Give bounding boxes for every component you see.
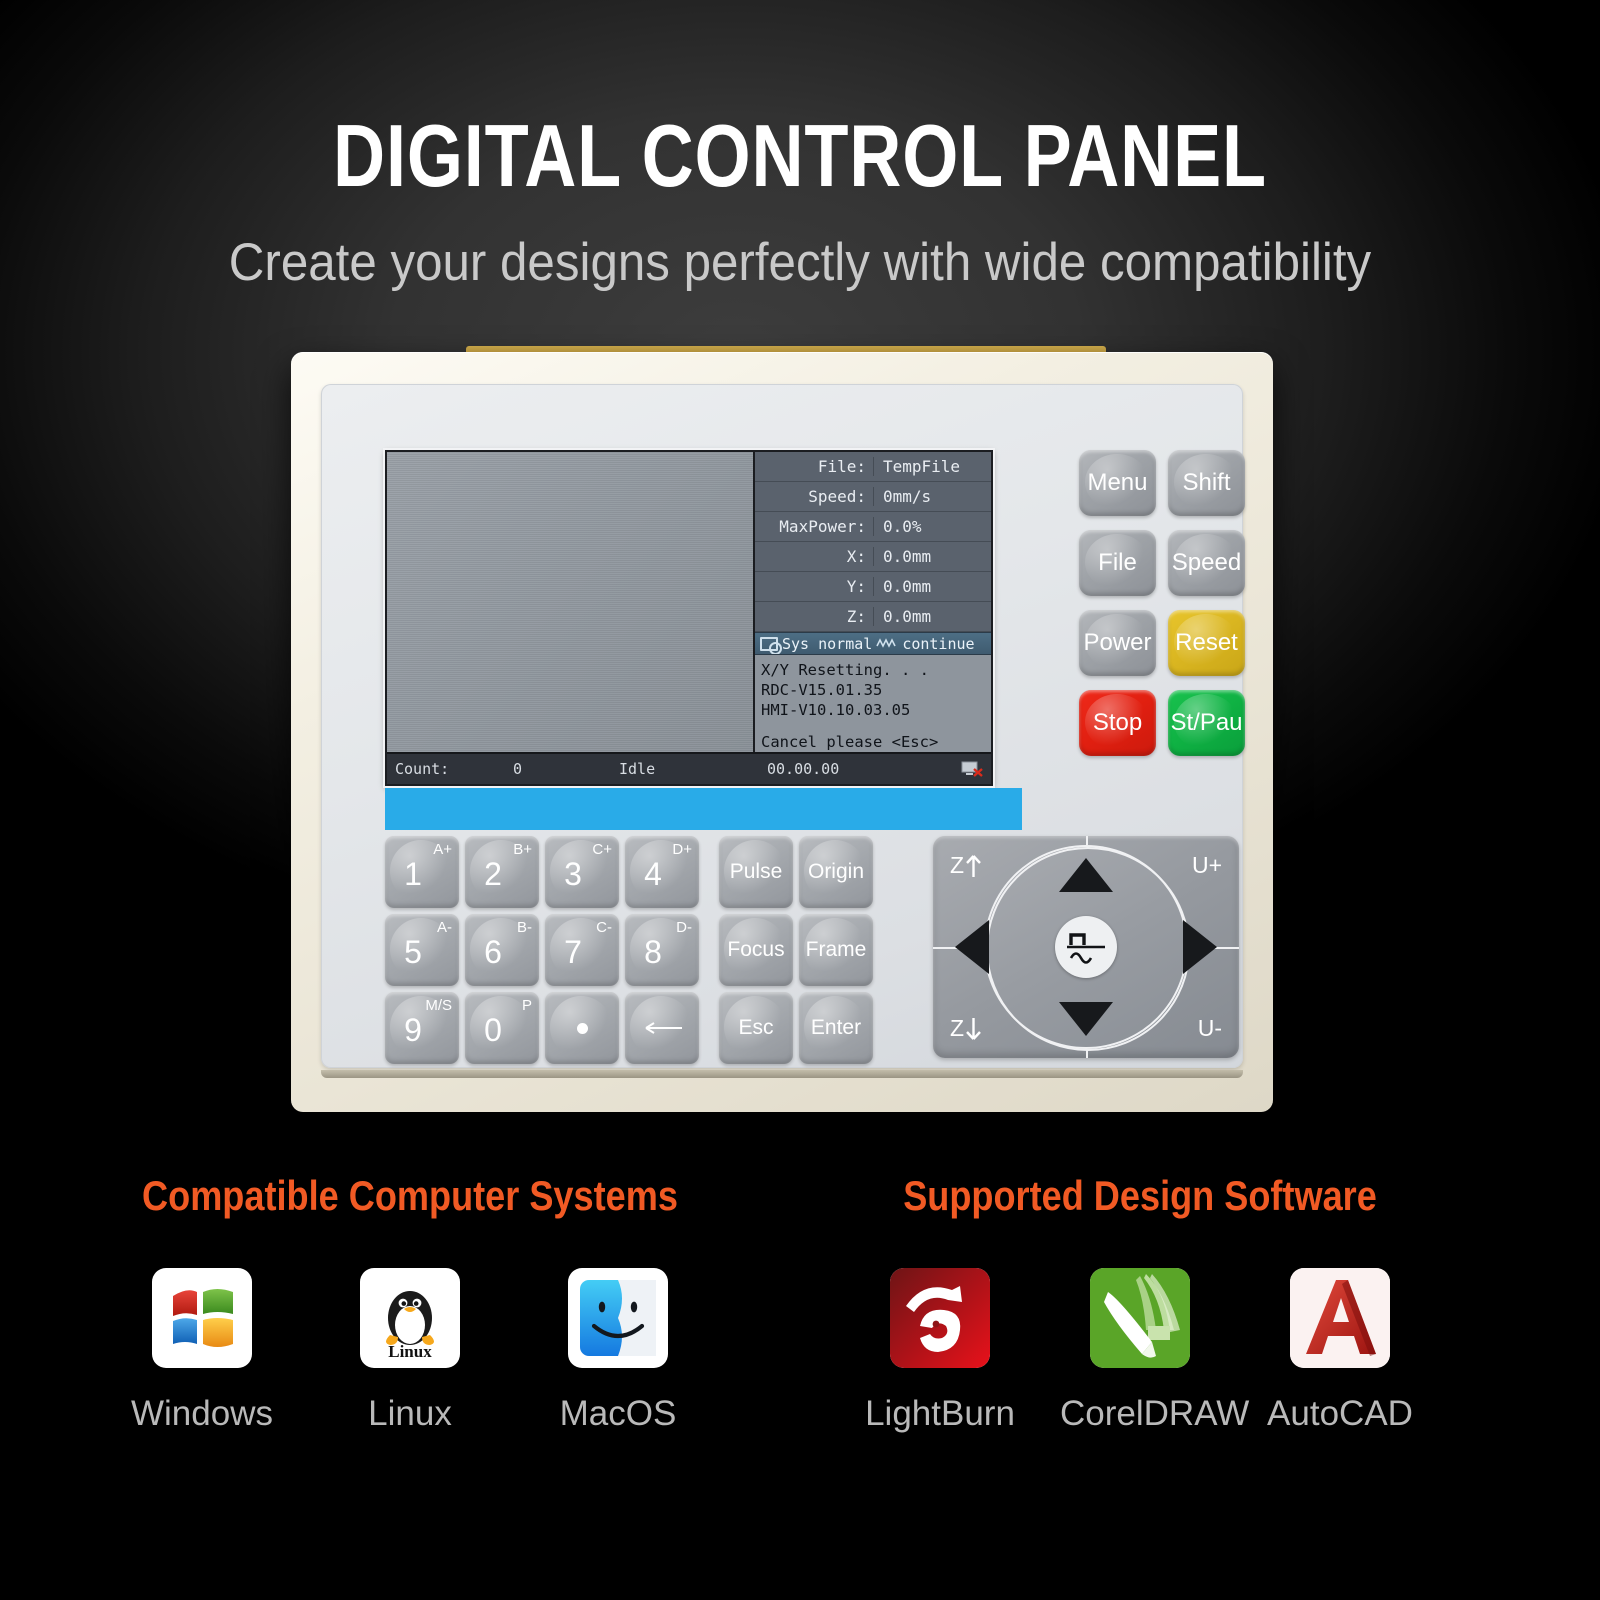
focus-button[interactable]: Focus bbox=[719, 914, 793, 986]
windows-logo-icon bbox=[152, 1268, 252, 1368]
info-value: 0.0mm bbox=[874, 547, 991, 566]
info-label: MaxPower: bbox=[755, 517, 874, 536]
count-value: 0 bbox=[513, 760, 522, 778]
system-name: Windows bbox=[127, 1394, 277, 1434]
info-value: 0.0mm bbox=[874, 607, 991, 626]
enter-button[interactable]: Enter bbox=[799, 992, 873, 1064]
key-3[interactable]: 3 C+ bbox=[545, 836, 619, 908]
key-label: Origin bbox=[808, 860, 864, 884]
start-pause-button[interactable]: St/Pau bbox=[1168, 690, 1245, 756]
key-label: Focus bbox=[727, 938, 784, 962]
reset-button[interactable]: Reset bbox=[1168, 610, 1245, 676]
status-badge: Idle bbox=[619, 760, 655, 778]
table-row: Z: 0.0mm bbox=[755, 602, 991, 632]
compatible-systems-section: Compatible Computer Systems bbox=[90, 1172, 730, 1434]
key-alt-label: A+ bbox=[433, 841, 452, 858]
list-item: LightBurn bbox=[860, 1268, 1020, 1434]
key-alt-label: M/S bbox=[425, 997, 452, 1014]
section-title-software: Supported Design Software bbox=[865, 1172, 1415, 1220]
key-1[interactable]: 1 A+ bbox=[385, 836, 459, 908]
message-line: HMI-V10.10.03.05 bbox=[761, 700, 985, 720]
decimal-point-icon bbox=[577, 1023, 588, 1034]
lcd-info-panel: File: TempFile Speed: 0mm/s MaxPower: 0.… bbox=[755, 452, 991, 752]
command-keypad: Pulse Origin Focus Frame Esc E bbox=[719, 836, 873, 1064]
page-title: DIGITAL CONTROL PANEL bbox=[144, 112, 1456, 200]
count-label: Count: bbox=[395, 760, 449, 778]
key-label: Pulse bbox=[730, 860, 783, 884]
key-digit: 4 bbox=[644, 858, 662, 890]
key-alt-label: B- bbox=[517, 919, 532, 936]
numeric-keypad: 1 A+ 2 B+ 3 C+ 4 D+ bbox=[385, 836, 699, 1064]
pulse-button[interactable]: Pulse bbox=[719, 836, 793, 908]
key-digit: 8 bbox=[644, 936, 662, 968]
arrow-left-button[interactable] bbox=[955, 920, 989, 974]
table-row: MaxPower: 0.0% bbox=[755, 512, 991, 542]
key-5[interactable]: 5 A- bbox=[385, 914, 459, 986]
pulse-waveform-icon bbox=[1064, 927, 1108, 967]
info-value: TempFile bbox=[874, 457, 991, 476]
system-ok-icon bbox=[760, 637, 778, 651]
u-minus-button[interactable]: U- bbox=[1198, 1015, 1222, 1042]
frame-button[interactable]: Frame bbox=[799, 914, 873, 986]
z-up-label: Z bbox=[950, 852, 964, 879]
info-label: Speed: bbox=[755, 487, 874, 506]
key-digit: 3 bbox=[564, 858, 582, 890]
list-item: Linux Linux bbox=[335, 1268, 485, 1434]
key-alt-label: D+ bbox=[672, 841, 692, 858]
elapsed-time: 00.00.00 bbox=[767, 760, 839, 778]
lcd-body: File: TempFile Speed: 0mm/s MaxPower: 0.… bbox=[387, 452, 991, 752]
autocad-a-icon bbox=[1290, 1268, 1390, 1368]
message-line: Cancel please <Esc> bbox=[761, 732, 985, 752]
menu-button[interactable]: Menu bbox=[1079, 450, 1156, 516]
key-digit: 9 bbox=[404, 1014, 422, 1046]
pulse-center-button[interactable] bbox=[1055, 916, 1117, 978]
key-8[interactable]: 8 D- bbox=[625, 914, 699, 986]
waveform-icon bbox=[876, 637, 898, 650]
u-plus-button[interactable]: U+ bbox=[1192, 852, 1222, 879]
key-label: Esc bbox=[738, 1016, 773, 1040]
device-faceplate: File: TempFile Speed: 0mm/s MaxPower: 0.… bbox=[321, 384, 1243, 1068]
list-item: Windows bbox=[127, 1268, 277, 1434]
list-item: AutoCAD bbox=[1260, 1268, 1420, 1434]
sys-status-left: Sys normal bbox=[782, 635, 872, 653]
arrow-right-button[interactable] bbox=[1183, 920, 1217, 974]
direction-pad: Z Z U+ U- bbox=[933, 836, 1239, 1058]
blue-accent-strip bbox=[385, 788, 1022, 830]
info-label: Y: bbox=[755, 577, 874, 596]
software-name: LightBurn bbox=[860, 1394, 1020, 1434]
key-alt-label: P bbox=[522, 997, 532, 1014]
key-backspace[interactable] bbox=[625, 992, 699, 1064]
z-up-button[interactable]: Z bbox=[950, 852, 982, 879]
software-icon-row: LightBurn CorelDRAW bbox=[820, 1268, 1460, 1434]
software-name: CorelDRAW bbox=[1060, 1394, 1220, 1434]
key-9[interactable]: 9 M/S bbox=[385, 992, 459, 1064]
arrow-down-icon bbox=[965, 1017, 982, 1041]
file-button[interactable]: File bbox=[1079, 530, 1156, 596]
table-row: Speed: 0mm/s bbox=[755, 482, 991, 512]
system-status-bar: Sys normal continue bbox=[755, 632, 991, 655]
macos-finder-icon bbox=[568, 1268, 668, 1368]
arrow-down-button[interactable] bbox=[1059, 1002, 1113, 1036]
key-digit: 0 bbox=[484, 1014, 502, 1046]
lcd-info-table: File: TempFile Speed: 0mm/s MaxPower: 0.… bbox=[755, 452, 991, 632]
key-alt-label: D- bbox=[676, 919, 692, 936]
key-alt-label: C+ bbox=[592, 841, 612, 858]
disconnected-monitor-icon bbox=[961, 761, 983, 777]
speed-button[interactable]: Speed bbox=[1168, 530, 1245, 596]
backspace-arrow-icon bbox=[641, 1021, 683, 1035]
sys-status-right: continue bbox=[902, 635, 974, 653]
key-alt-label: A- bbox=[437, 919, 452, 936]
message-line: RDC-V15.01.35 bbox=[761, 680, 985, 700]
z-down-label: Z bbox=[950, 1015, 964, 1042]
page-subtitle: Create your designs perfectly with wide … bbox=[56, 234, 1544, 292]
arrow-up-icon bbox=[965, 854, 982, 878]
section-title-systems: Compatible Computer Systems bbox=[135, 1172, 685, 1220]
linux-tux-icon: Linux bbox=[360, 1268, 460, 1368]
lcd-status-bar: Count: 0 Idle 00.00.00 bbox=[387, 752, 991, 784]
keypad-cluster: 1 A+ 2 B+ 3 C+ 4 D+ bbox=[385, 836, 873, 1064]
table-row: Y: 0.0mm bbox=[755, 572, 991, 602]
table-row: File: TempFile bbox=[755, 452, 991, 482]
key-digit: 2 bbox=[484, 858, 502, 890]
lightburn-dragon-icon bbox=[890, 1268, 990, 1368]
lcd-preview-canvas[interactable] bbox=[387, 452, 755, 752]
list-item: MacOS bbox=[543, 1268, 693, 1434]
arrow-up-button[interactable] bbox=[1059, 858, 1113, 892]
list-item: CorelDRAW bbox=[1060, 1268, 1220, 1434]
function-key-cluster: Menu Shift File Speed Power Reset Stop S… bbox=[1079, 450, 1245, 770]
info-label: Z: bbox=[755, 607, 874, 626]
esc-button[interactable]: Esc bbox=[719, 992, 793, 1064]
lcd-screen: File: TempFile Speed: 0mm/s MaxPower: 0.… bbox=[385, 450, 993, 786]
z-down-button[interactable]: Z bbox=[950, 1015, 982, 1042]
system-name: Linux bbox=[335, 1394, 485, 1434]
shift-button[interactable]: Shift bbox=[1168, 450, 1245, 516]
svg-text:Linux: Linux bbox=[388, 1342, 432, 1361]
systems-icon-row: Windows Linux bbox=[90, 1268, 730, 1434]
info-value: 0.0mm bbox=[874, 577, 991, 596]
key-0[interactable]: 0 P bbox=[465, 992, 539, 1064]
coreldraw-balloon-icon bbox=[1090, 1268, 1190, 1368]
system-name: MacOS bbox=[543, 1394, 693, 1434]
info-value: 0mm/s bbox=[874, 487, 991, 506]
promo-page: DIGITAL CONTROL PANEL Create your design… bbox=[0, 0, 1600, 1600]
info-label: File: bbox=[755, 457, 874, 476]
key-decimal-point[interactable] bbox=[545, 992, 619, 1064]
origin-button[interactable]: Origin bbox=[799, 836, 873, 908]
stop-button[interactable]: Stop bbox=[1079, 690, 1156, 756]
control-panel-device: File: TempFile Speed: 0mm/s MaxPower: 0.… bbox=[291, 352, 1273, 1112]
key-digit: 6 bbox=[484, 936, 502, 968]
key-label: Frame bbox=[806, 938, 867, 962]
info-label: X: bbox=[755, 547, 874, 566]
key-7[interactable]: 7 C- bbox=[545, 914, 619, 986]
info-value: 0.0% bbox=[874, 517, 991, 536]
key-4[interactable]: 4 D+ bbox=[625, 836, 699, 908]
key-alt-label: C- bbox=[596, 919, 612, 936]
message-line: X/Y Resetting. . . bbox=[761, 660, 985, 680]
key-label: Enter bbox=[811, 1016, 861, 1040]
supported-software-section: Supported Design Software LightBurn bbox=[820, 1172, 1460, 1434]
key-2[interactable]: 2 B+ bbox=[465, 836, 539, 908]
key-digit: 7 bbox=[564, 936, 582, 968]
key-6[interactable]: 6 B- bbox=[465, 914, 539, 986]
key-digit: 5 bbox=[404, 936, 422, 968]
lcd-message-area: X/Y Resetting. . . RDC-V15.01.35 HMI-V10… bbox=[755, 655, 991, 752]
key-digit: 1 bbox=[404, 858, 422, 890]
key-alt-label: B+ bbox=[513, 841, 532, 858]
table-row: X: 0.0mm bbox=[755, 542, 991, 572]
software-name: AutoCAD bbox=[1260, 1394, 1420, 1434]
power-button[interactable]: Power bbox=[1079, 610, 1156, 676]
